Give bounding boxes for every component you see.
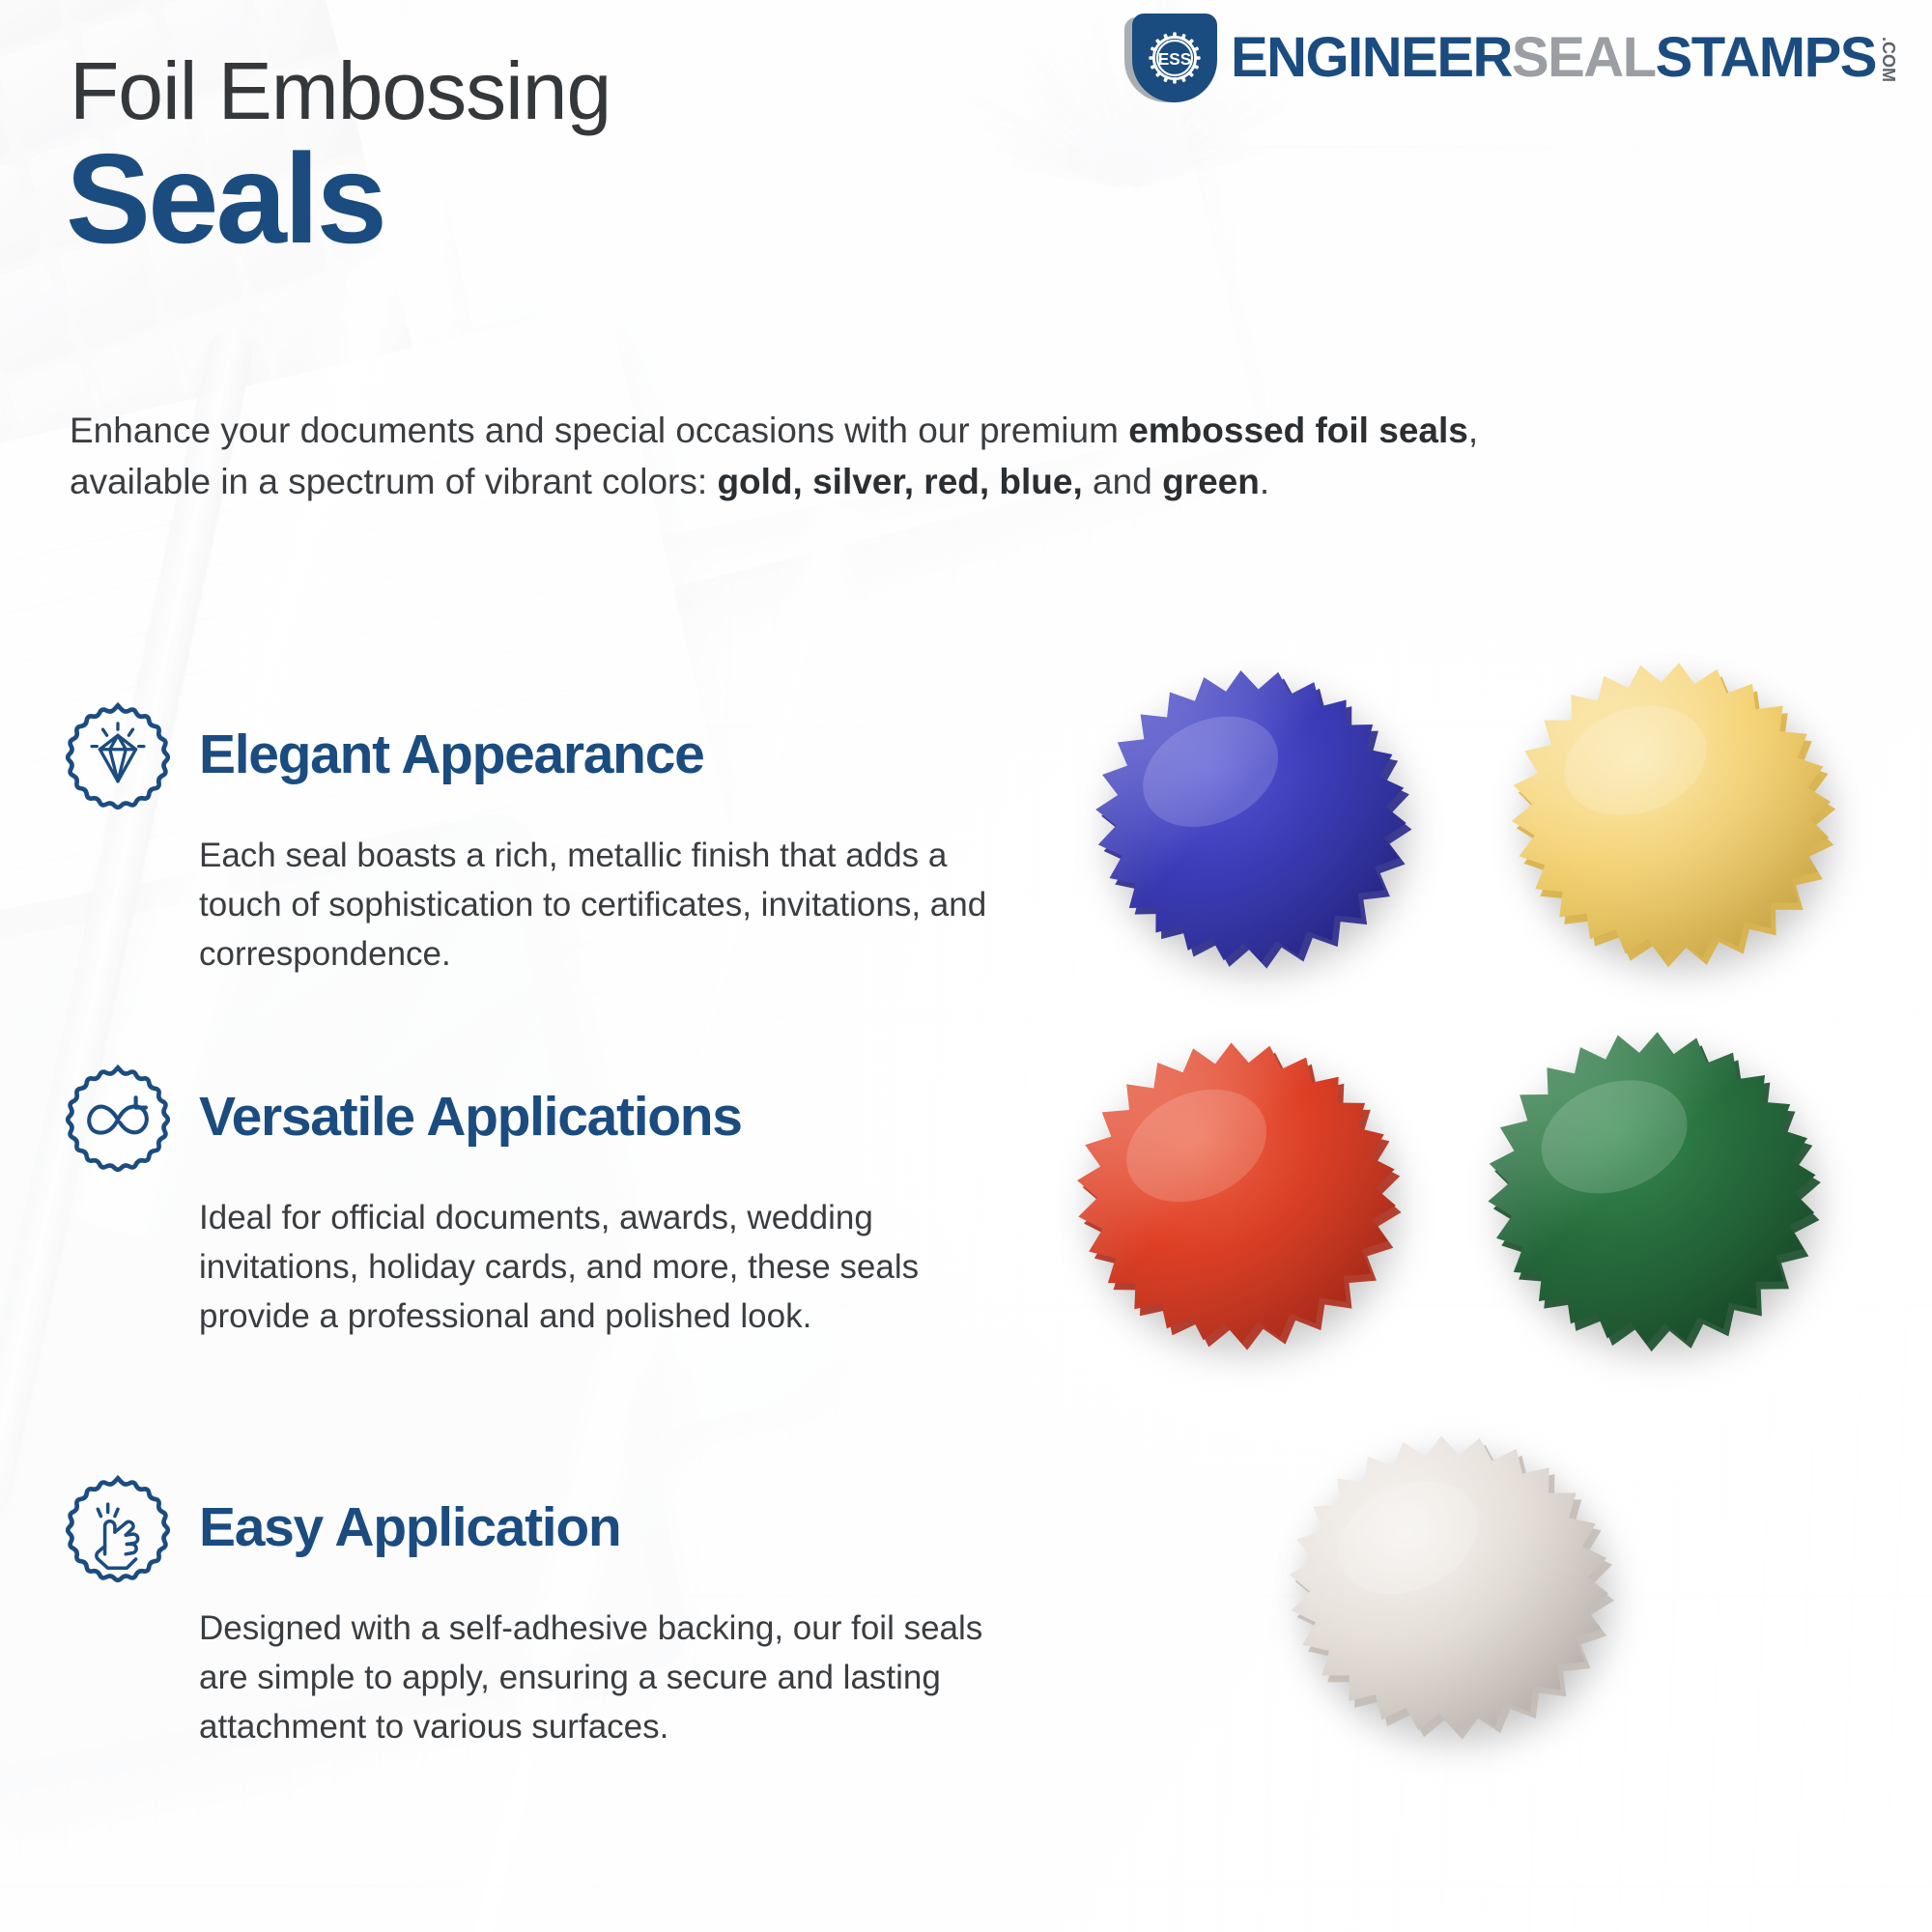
intro-line1-pre: Enhance your documents and special occas… (70, 411, 1128, 450)
brand-word-seal: SEAL (1512, 30, 1656, 86)
feature-elegant-appearance: Elegant Appearance Each seal boasts a ri… (58, 715, 1034, 979)
feature-easy-application: Easy Application Designed with a self-ad… (58, 1488, 1034, 1751)
page-title-kicker: Foil Embossing (70, 50, 611, 131)
intro-line1-post: , (1468, 411, 1478, 450)
brand-logo[interactable]: ESS ENGINEERSEALSTAMPS.COM (1132, 14, 1897, 102)
seal-shape-silver (1265, 1410, 1633, 1758)
seal-shape-red (1053, 1019, 1420, 1367)
foil-seal-gold (1488, 638, 1855, 985)
intro-line1-bold: embossed foil seals (1128, 411, 1468, 450)
feature-heading: Easy Application (199, 1488, 620, 1557)
seal-shape-gold (1488, 638, 1855, 985)
foil-seal-blue (1072, 647, 1430, 985)
infographic-page: ESS ENGINEERSEALSTAMPS.COM Foil Embossin… (0, 0, 1932, 1932)
intro-line2-pre: available in a spectrum of vibrant color… (70, 462, 717, 501)
feature-heading: Versatile Applications (199, 1077, 742, 1147)
brand-word-engineer: ENGINEER (1231, 30, 1512, 86)
feature-body: Ideal for official documents, awards, we… (199, 1193, 1034, 1341)
diamond-gem-badge-icon (58, 697, 178, 817)
seal-shape-blue (1072, 647, 1430, 985)
intro-line2-mid: and (1083, 462, 1162, 501)
foil-seal-green (1468, 1009, 1835, 1367)
brand-tld: .COM (1880, 37, 1897, 82)
page-title: Seals (66, 135, 384, 263)
ess-gear-shield-icon: ESS (1132, 14, 1217, 102)
foil-seal-red (1053, 1019, 1420, 1367)
ess-monogram: ESS (1158, 49, 1192, 69)
infinity-loop-badge-icon (58, 1060, 178, 1179)
intro-line2-post: . (1260, 462, 1269, 501)
brand-word-stamps: STAMPS (1656, 30, 1876, 86)
intro-paragraph: Enhance your documents and special occas… (70, 406, 1519, 507)
gear-icon: ESS (1140, 23, 1209, 93)
foil-seal-silver (1265, 1410, 1633, 1758)
feature-versatile-applications: Versatile Applications Ideal for officia… (58, 1077, 1034, 1341)
seal-shape-green (1468, 1009, 1835, 1367)
tapping-hand-badge-icon (58, 1470, 178, 1590)
feature-body: Designed with a self-adhesive backing, o… (199, 1604, 1034, 1751)
intro-line2-bold2: green (1162, 462, 1260, 501)
feature-body: Each seal boasts a rich, metallic finish… (199, 831, 1034, 979)
feature-heading: Elegant Appearance (199, 715, 704, 784)
brand-wordmark: ENGINEERSEALSTAMPS.COM (1231, 30, 1897, 86)
intro-line2-bold: gold, silver, red, blue, (717, 462, 1082, 501)
